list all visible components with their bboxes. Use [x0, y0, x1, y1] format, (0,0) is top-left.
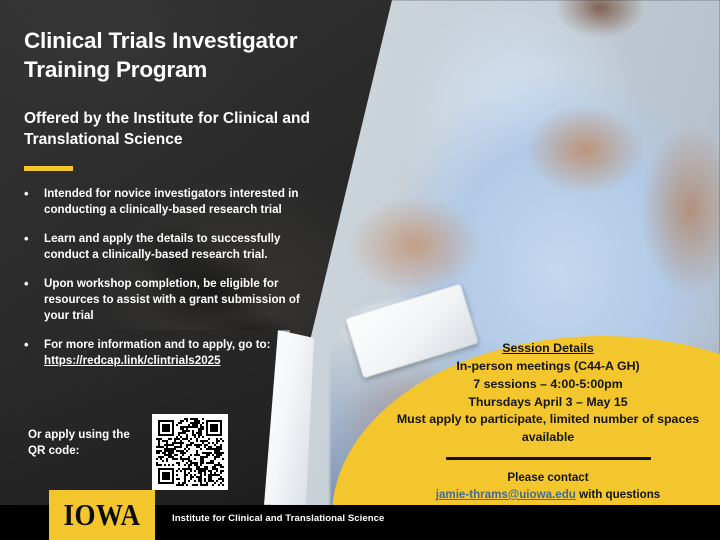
- list-item: • Intended for novice investigators inte…: [16, 186, 306, 218]
- contact-block: Please contact jamie-thrams@uiowa.edu wi…: [388, 470, 708, 504]
- contact-line: jamie-thrams@uiowa.edu with questions: [388, 487, 708, 504]
- qr-code-icon[interactable]: [152, 414, 228, 490]
- poster-canvas: Clinical Trials Investigator Training Pr…: [0, 0, 720, 540]
- qr-instruction-label: Or apply using the QR code:: [28, 427, 148, 459]
- session-detail-line: In-person meetings (C44-A GH): [388, 358, 708, 376]
- bullet-dot-icon: •: [24, 230, 29, 248]
- bullet-dot-icon: •: [24, 185, 29, 203]
- list-item-label: Upon workshop completion, be eligible fo…: [44, 277, 300, 322]
- bullet-list: • Intended for novice investigators inte…: [16, 186, 306, 382]
- bullet-dot-icon: •: [24, 336, 29, 354]
- contact-prefix-label: Please contact: [388, 470, 708, 487]
- list-item: • Upon workshop completion, be eligible …: [16, 276, 306, 324]
- contact-email-link[interactable]: jamie-thrams@uiowa.edu: [436, 488, 576, 501]
- list-item-label: Intended for novice investigators intere…: [44, 187, 298, 216]
- list-item-label: For more information and to apply, go to…: [44, 338, 271, 351]
- session-details-heading: Session Details: [388, 340, 708, 358]
- session-detail-line: Thursdays April 3 – May 15: [388, 394, 708, 412]
- page-title: Clinical Trials Investigator Training Pr…: [24, 27, 354, 85]
- accent-divider: [24, 166, 73, 171]
- session-detail-line: Must apply to participate, limited numbe…: [388, 411, 708, 447]
- iowa-logo-text: IOWA: [63, 498, 140, 533]
- page-subtitle: Offered by the Institute for Clinical an…: [24, 108, 364, 151]
- apply-url-link[interactable]: https://redcap.link/clintrials2025: [44, 354, 221, 367]
- bullet-dot-icon: •: [24, 275, 29, 293]
- footer-department-label: Institute for Clinical and Translational…: [172, 513, 384, 524]
- list-item: • Learn and apply the details to success…: [16, 231, 306, 263]
- iowa-logo: IOWA: [49, 490, 155, 540]
- list-item-apply-link: • For more information and to apply, go …: [16, 337, 306, 369]
- session-details-block: Session Details In-person meetings (C44-…: [388, 340, 708, 468]
- session-divider: [446, 457, 651, 460]
- list-item-label: Learn and apply the details to successfu…: [44, 232, 280, 261]
- session-detail-line: 7 sessions – 4:00-5:00pm: [388, 376, 708, 394]
- contact-suffix-label: with questions: [576, 488, 660, 501]
